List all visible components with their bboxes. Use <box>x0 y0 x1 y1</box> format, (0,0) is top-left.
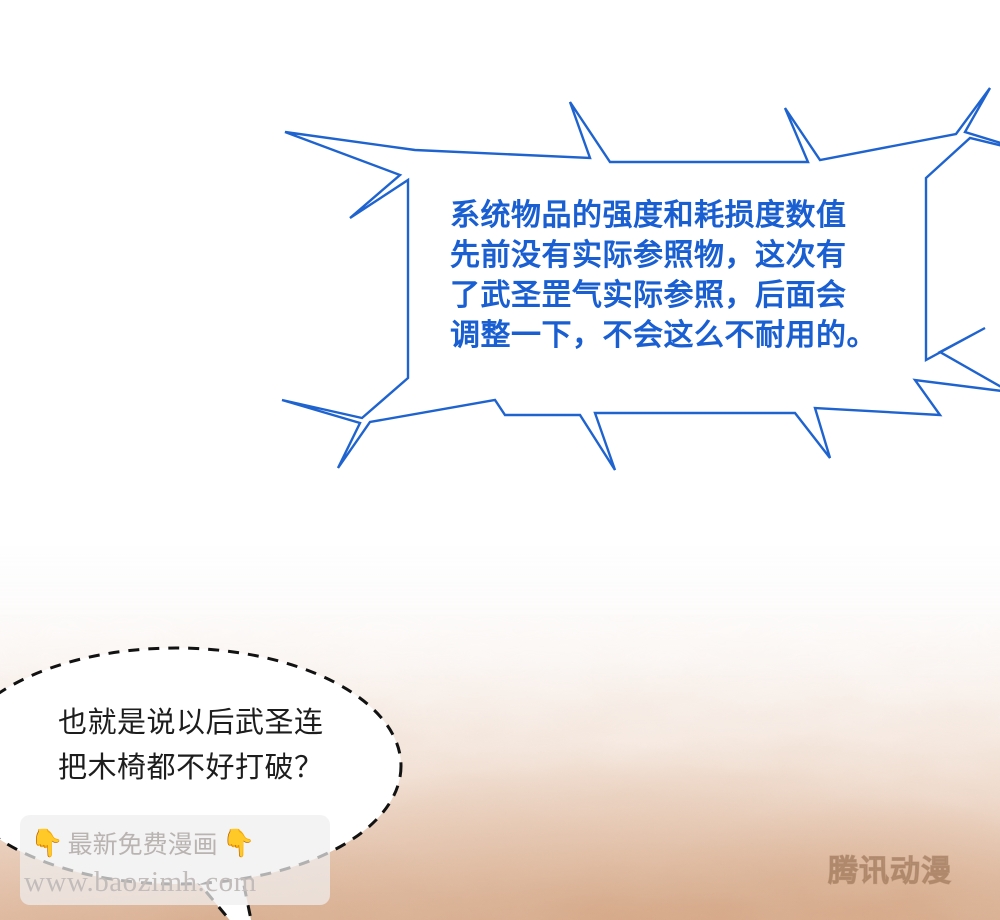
point-down-hand-icon-right: 👇 <box>222 830 256 857</box>
watermark-promo-text: 最新免费漫画 <box>68 825 218 861</box>
watermark-url: www.baozimh.com <box>24 866 257 899</box>
tencent-comics-watermark: 腾讯动漫 <box>828 846 952 890</box>
dialogue-text: 也就是说以后武圣连 把木椅都不好打破？ <box>58 700 438 790</box>
watermark-promo-row: 👇 最新免费漫画 👇 <box>30 822 330 864</box>
narration-panel: 系统物品的强度和耗损度数值 先前没有实际参照物，这次有 了武圣罡气实际参照，后面… <box>0 0 1000 546</box>
comic-page: 系统物品的强度和耗损度数值 先前没有实际参照物，这次有 了武圣罡气实际参照，后面… <box>0 0 1000 920</box>
point-down-hand-icon-left: 👇 <box>30 830 64 857</box>
narration-text: 系统物品的强度和耗损度数值 先前没有实际参照物，这次有 了武圣罡气实际参照，后面… <box>450 196 950 356</box>
